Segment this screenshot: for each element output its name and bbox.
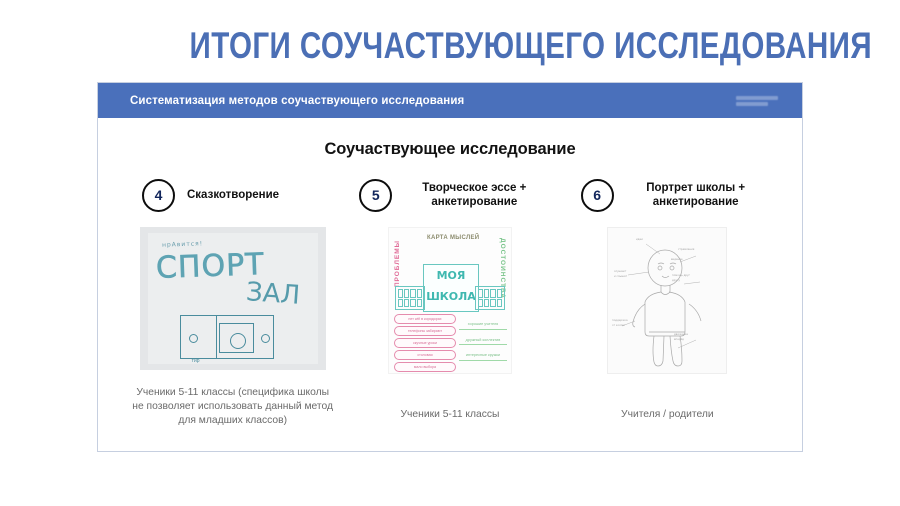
- mindmap-problem-bubble: мало выбора: [394, 362, 456, 372]
- method-caption-6: Учителя / родители: [559, 386, 776, 428]
- svg-text:и слышат: и слышат: [614, 275, 628, 278]
- mindmap-advantage-note: интересные кружки: [459, 351, 507, 361]
- method-number-badge-6: 6: [581, 179, 614, 212]
- method-label-5: Творческое эссе + анкетирование: [404, 181, 544, 209]
- sketch-gym-circle: [230, 333, 246, 349]
- method-column-5: 5 Творческое эссе + анкетирование КАРТА …: [341, 177, 558, 374]
- method-header-5: 5 Творческое эссе + анкетирование: [341, 177, 558, 213]
- slide-card: Систематизация методов соучаствующего ис…: [97, 82, 803, 452]
- mindmap-problem-bubbles: нет wifi в коридорах телефоны забирают с…: [394, 314, 456, 374]
- sportzal-marker-sketch: нрАвится! СПОРТ ЗАЛ тир: [140, 227, 326, 370]
- section-heading: Соучаствующее исследование: [98, 140, 802, 159]
- logo-line-top: [736, 96, 778, 100]
- sketch-small-label: тир: [192, 358, 200, 364]
- mindmap-center-line-2: ШКОЛА: [424, 286, 478, 307]
- sketch-gym-floorplan: [180, 315, 274, 359]
- svg-text:стремления: стремления: [678, 248, 695, 251]
- svg-text:от коллег: от коллег: [612, 324, 626, 327]
- slide-header: Систематизация методов соучаствующего ис…: [98, 83, 802, 118]
- mindmap-title: КАРТА МЫСЛЕЙ: [427, 234, 479, 242]
- artwork-wrapper-4: нрАвится! СПОРТ ЗАЛ тир: [124, 227, 341, 370]
- mindmap-left-axis-label: ПРОБЛЕМЫ: [394, 240, 401, 287]
- mindmap-building-right-icon: [475, 286, 505, 310]
- page-title: ИТОГИ СОУЧАСТВУЮЩЕГО ИССЛЕДОВАНИЯ: [174, 26, 872, 66]
- slide-header-title: Систематизация методов соучаствующего ис…: [130, 95, 464, 107]
- svg-text:слушают: слушают: [614, 270, 627, 273]
- artwork-wrapper-5: КАРТА МЫСЛЕЙ ПРОБЛЕМЫ ДОСТОИНСТВА МОЯ ШК…: [341, 227, 558, 374]
- svg-text:движение: движение: [674, 333, 688, 336]
- method-label-6: Портрет школы + анкетирование: [626, 181, 766, 209]
- method-caption-5: Ученики 5-11 классы: [341, 386, 558, 428]
- sketch-scribble-text: нрАвится!: [162, 240, 203, 248]
- svg-text:видение: видение: [671, 258, 683, 261]
- method-number-badge-5: 5: [359, 179, 392, 212]
- sketch-gym-dot-right: [261, 334, 270, 343]
- method-header-4: 4 Сказкотворение: [124, 177, 341, 213]
- mindmap-problem-bubble: скучные уроки: [394, 338, 456, 348]
- mind-map-moya-shkola: КАРТА МЫСЛЕЙ ПРОБЛЕМЫ ДОСТОИНСТВА МОЯ ШК…: [388, 227, 512, 374]
- method-caption-4: Ученики 5-11 классы (специфика школы не …: [124, 386, 341, 428]
- mindmap-advantage-note: дружный коллектив: [459, 336, 507, 346]
- sketch-gym-inner-room: [219, 323, 254, 354]
- method-header-6: 6 Портрет школы + анкетирование: [559, 177, 776, 213]
- mindmap-advantage-notes: хорошие учителя дружный коллектив интере…: [459, 320, 507, 367]
- mindmap-problem-bubble: нет wifi в коридорах: [394, 314, 456, 324]
- portrait-figure-drawing: идеи стремления видение слушают и слышат…: [608, 228, 726, 373]
- method-label-4: Сказкотворение: [187, 188, 279, 202]
- slide-body: Соучаствующее исследование 4 Сказкотворе…: [98, 140, 802, 473]
- pencil-portrait-of-school-figure: идеи стремления видение слушают и слышат…: [607, 227, 727, 374]
- artwork-wrapper-6: идеи стремления видение слушают и слышат…: [559, 227, 776, 374]
- method-column-6: 6 Портрет школы + анкетирование: [559, 177, 776, 374]
- mindmap-building-left-icon: [395, 286, 425, 310]
- organization-logo-watermark-icon: [736, 90, 788, 112]
- methods-row: 4 Сказкотворение нрАвится! СПОРТ ЗАЛ: [98, 177, 802, 374]
- svg-text:другу: другу: [672, 279, 680, 282]
- mindmap-advantage-note: хорошие учителя: [459, 320, 507, 330]
- sketch-word-zal: ЗАЛ: [245, 277, 301, 311]
- captions-row: Ученики 5-11 классы (специфика школы не …: [98, 386, 802, 428]
- sketch-gym-dot-left: [189, 334, 198, 343]
- svg-text:поддержка: поддержка: [612, 319, 628, 322]
- mindmap-center-line-1: МОЯ: [424, 265, 478, 286]
- logo-line-bottom: [736, 102, 768, 106]
- mindmap-problem-bubble: столовая: [394, 350, 456, 360]
- svg-text:помощь друг: помощь друг: [672, 274, 691, 277]
- svg-text:идеи: идеи: [636, 238, 643, 241]
- mindmap-center-node: МОЯ ШКОЛА: [423, 264, 479, 312]
- method-number-badge-4: 4: [142, 179, 175, 212]
- svg-text:вперёд: вперёд: [674, 337, 684, 341]
- mindmap-problem-bubble: телефоны забирают: [394, 326, 456, 336]
- method-column-4: 4 Сказкотворение нрАвится! СПОРТ ЗАЛ: [124, 177, 341, 374]
